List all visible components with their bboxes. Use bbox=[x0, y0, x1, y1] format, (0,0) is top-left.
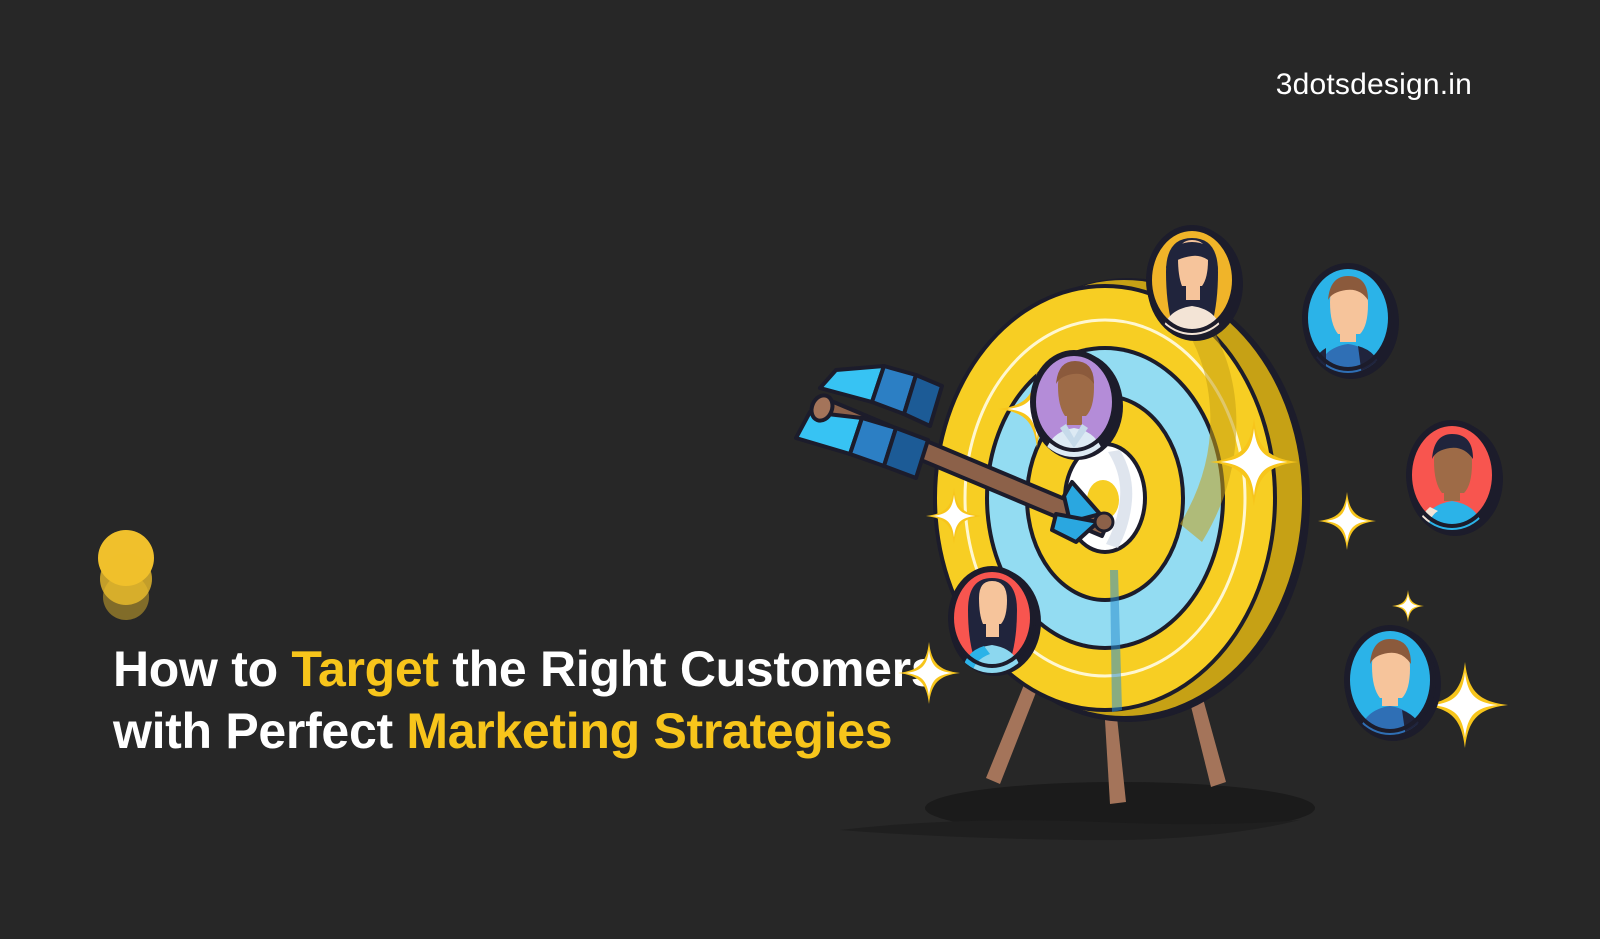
avatar-man-blue-bottom bbox=[1344, 625, 1441, 741]
site-watermark: 3dotsdesign.in bbox=[1276, 68, 1472, 102]
avatar-man-blue-top bbox=[1302, 263, 1399, 379]
headline-text: How to bbox=[113, 641, 291, 697]
ground-shadow bbox=[840, 782, 1315, 840]
avatar-woman-yellow bbox=[1146, 225, 1243, 341]
four-point-sparkle bbox=[1318, 492, 1376, 550]
marketing-target-illustration bbox=[780, 170, 1540, 870]
headline-text: with Perfect bbox=[113, 703, 406, 759]
headline-accent-target: Target bbox=[291, 641, 438, 697]
four-point-sparkle bbox=[1392, 590, 1424, 622]
four-point-sparkle bbox=[898, 642, 960, 704]
decor-dot bbox=[103, 574, 149, 620]
avatar-man-red bbox=[1406, 420, 1503, 536]
yellow-dot-stack bbox=[98, 530, 168, 625]
poster-canvas: 3dotsdesign.in How to Target the Right C… bbox=[0, 0, 1600, 939]
